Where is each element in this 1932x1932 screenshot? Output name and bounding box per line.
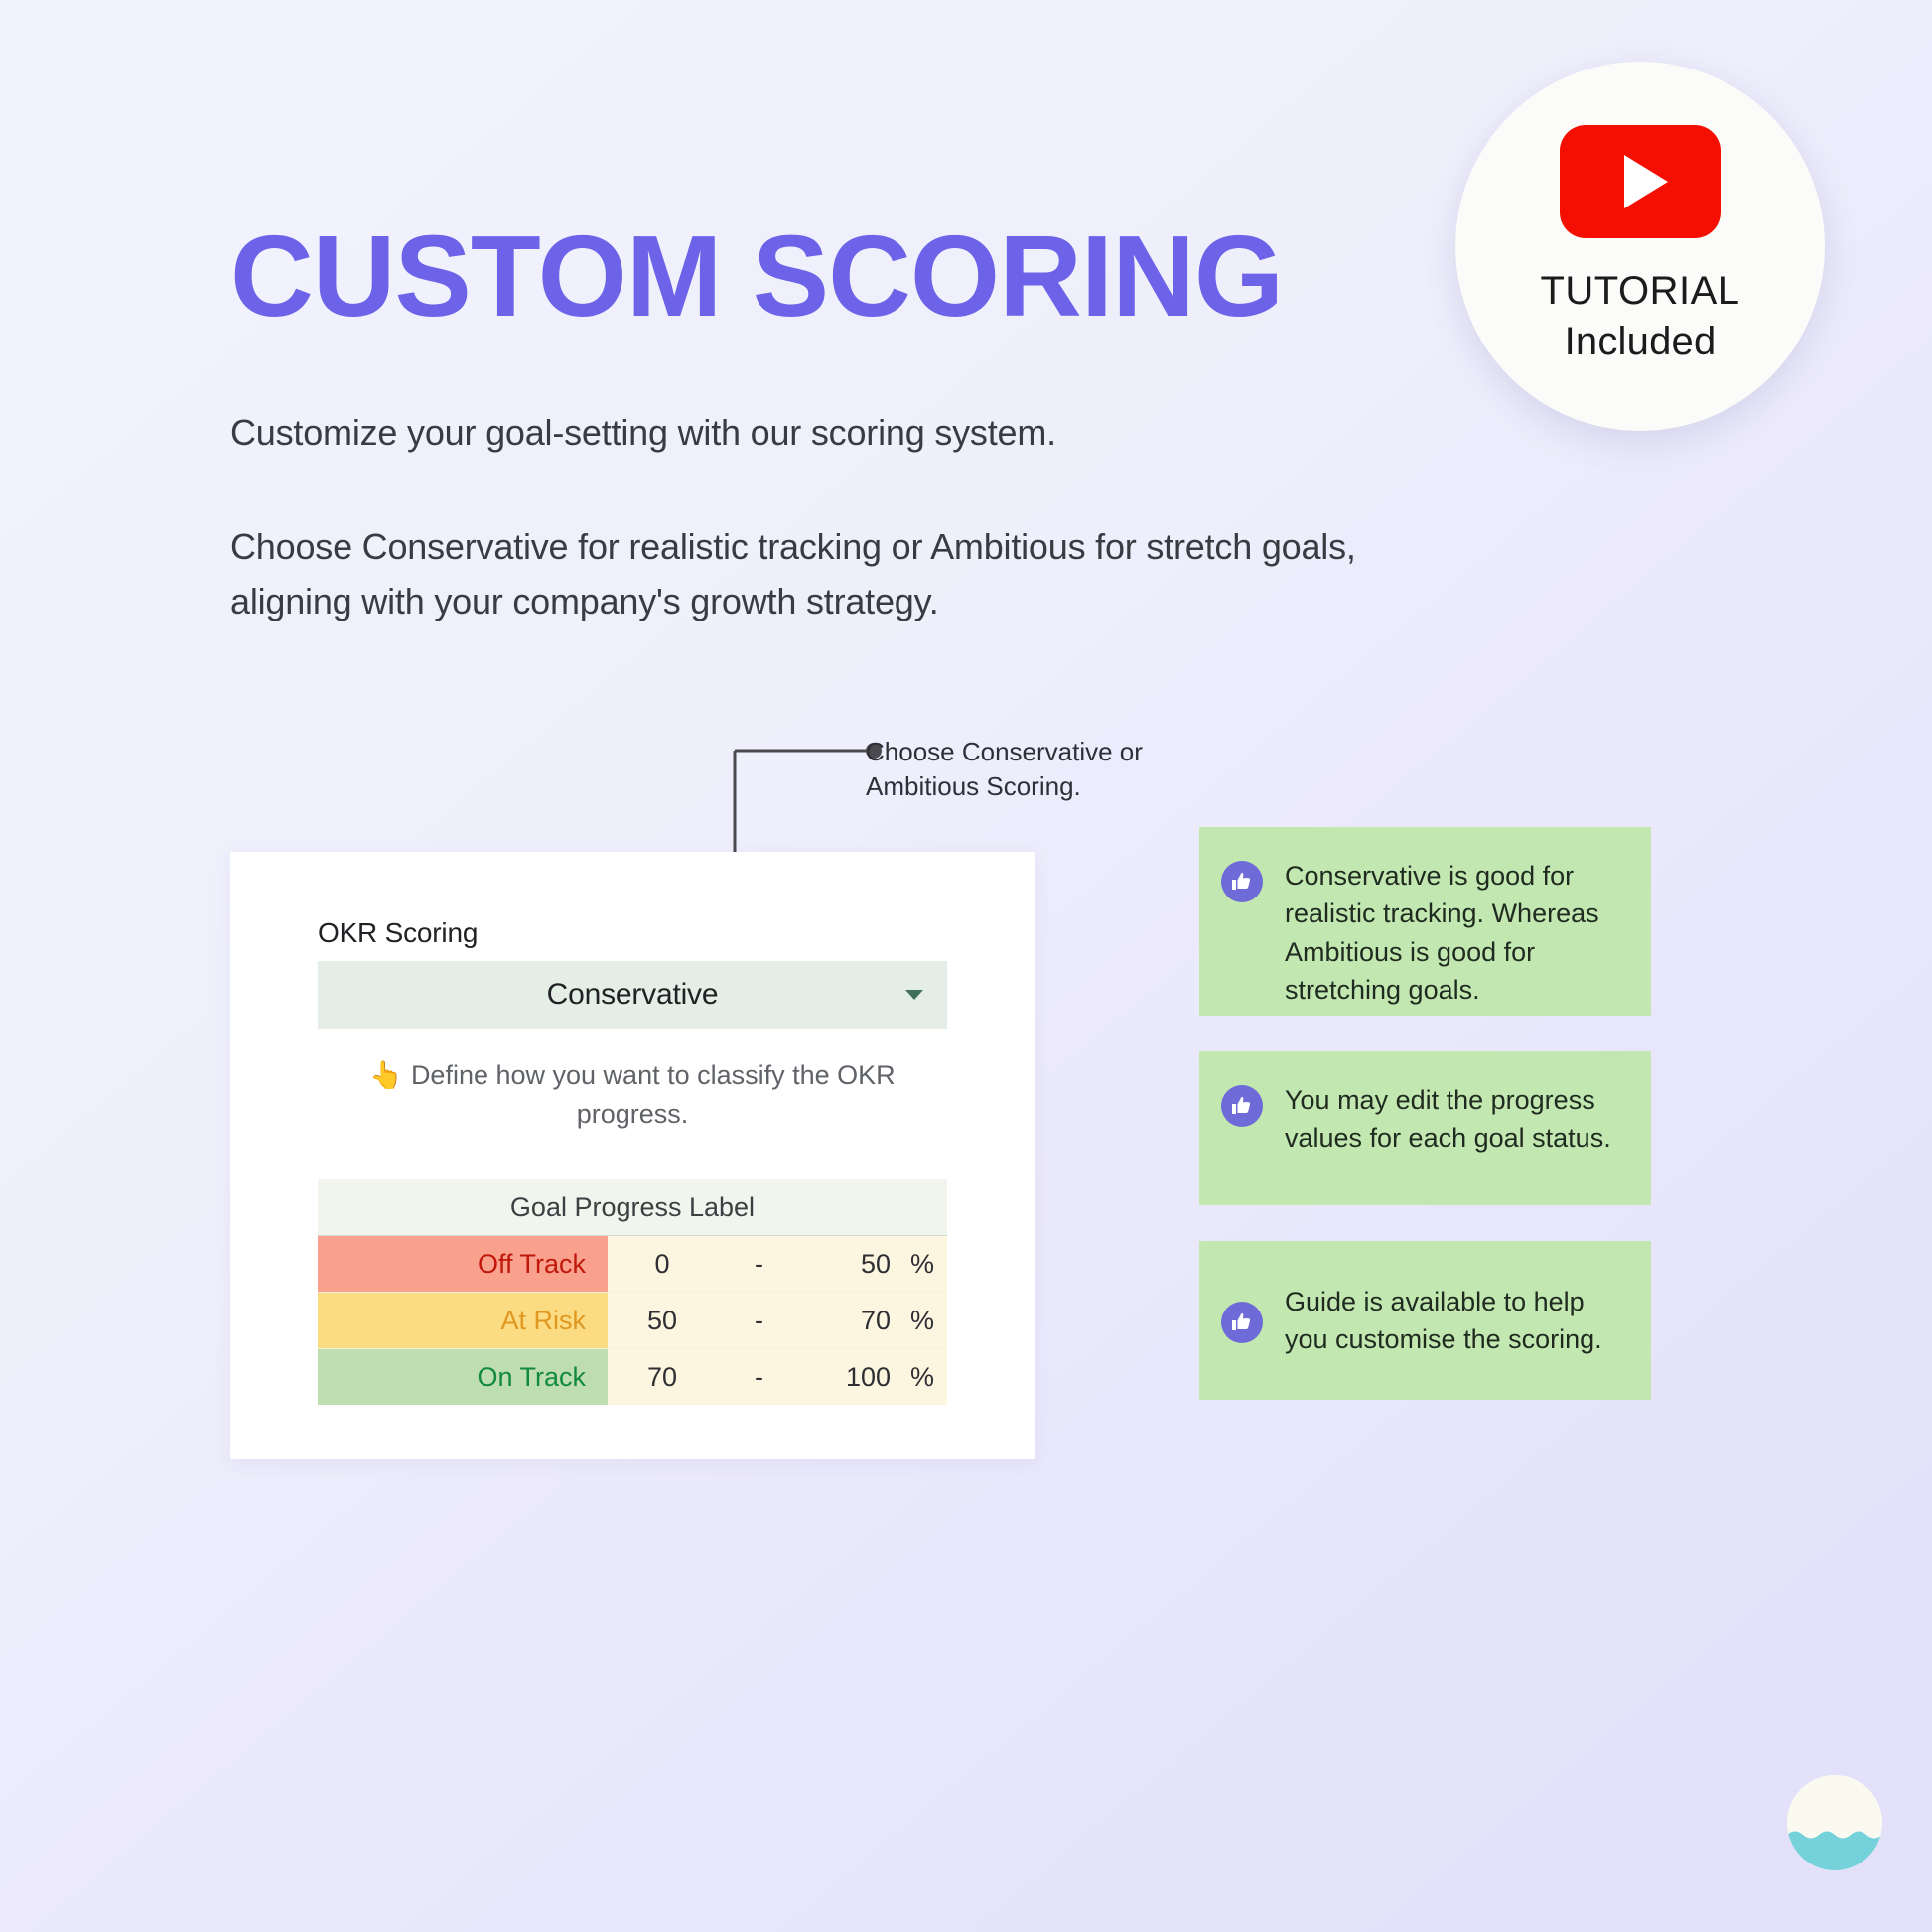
okr-scoring-select[interactable]: Conservative [318, 961, 947, 1029]
page-subtitle: Customize your goal-setting with our sco… [230, 338, 1382, 459]
pointing-up-hand-icon: 👆 [369, 1060, 403, 1090]
wave-circle-logo [1787, 1775, 1882, 1870]
range-unit: % [897, 1293, 947, 1349]
list-item: You may edit the progress values for eac… [1199, 1051, 1651, 1205]
range-unit: % [897, 1236, 947, 1293]
tutorial-badge-line2: Included [1565, 317, 1717, 367]
range-from-value[interactable]: 70 [608, 1349, 717, 1406]
range-dash: - [717, 1236, 801, 1293]
tutorial-badge-line1: TUTORIAL [1540, 266, 1739, 317]
list-item: Guide is available to help you customise… [1199, 1241, 1651, 1400]
status-badge: At Risk [318, 1293, 608, 1349]
okr-scoring-hint: 👆Define how you want to classify the OKR… [318, 1056, 947, 1134]
okr-scoring-hint-text: Define how you want to classify the OKR … [411, 1060, 896, 1129]
play-triangle-icon [1624, 155, 1668, 208]
goal-progress-table-header: Goal Progress Label [318, 1179, 947, 1236]
okr-scoring-field-label: OKR Scoring [318, 917, 478, 949]
tutorial-badge[interactable]: TUTORIAL Included [1455, 62, 1825, 431]
range-dash: - [717, 1293, 801, 1349]
range-dash: - [717, 1349, 801, 1406]
thumbs-up-icon [1221, 1302, 1263, 1343]
tips-list: Conservative is good for realistic track… [1199, 827, 1651, 1436]
header-block: CUSTOM SCORING Customize your goal-setti… [230, 216, 1382, 628]
range-from-value[interactable]: 50 [608, 1293, 717, 1349]
youtube-play-icon [1560, 125, 1721, 238]
table-row[interactable]: Off Track 0 - 50 % [318, 1236, 947, 1293]
range-unit: % [897, 1349, 947, 1406]
status-badge: On Track [318, 1349, 608, 1406]
range-to-value[interactable]: 50 [801, 1236, 897, 1293]
range-to-value[interactable]: 100 [801, 1349, 897, 1406]
okr-scoring-select-value: Conservative [547, 978, 719, 1012]
chevron-down-icon [905, 990, 923, 1000]
range-to-value[interactable]: 70 [801, 1293, 897, 1349]
status-badge: Off Track [318, 1236, 608, 1293]
annotation-callout-text: Choose Conservative or Ambitious Scoring… [866, 735, 1203, 804]
range-from-value[interactable]: 0 [608, 1236, 717, 1293]
goal-progress-table-body: Off Track 0 - 50 % At Risk 50 - 70 % On … [318, 1236, 947, 1406]
thumbs-up-icon [1221, 1085, 1263, 1127]
okr-scoring-card: OKR Scoring Conservative 👆Define how you… [230, 852, 1035, 1459]
table-row[interactable]: On Track 70 - 100 % [318, 1349, 947, 1406]
page-intro-paragraph: Choose Conservative for realistic tracki… [230, 459, 1382, 628]
goal-progress-table: Goal Progress Label Off Track 0 - 50 % A… [318, 1179, 947, 1405]
table-row[interactable]: At Risk 50 - 70 % [318, 1293, 947, 1349]
thumbs-up-icon [1221, 861, 1263, 902]
page-title: CUSTOM SCORING [230, 216, 1382, 338]
list-item-label: Guide is available to help you customise… [1285, 1283, 1621, 1359]
table-header-row: Goal Progress Label [318, 1179, 947, 1236]
list-item: Conservative is good for realistic track… [1199, 827, 1651, 1016]
list-item-label: Conservative is good for realistic track… [1285, 857, 1621, 1009]
list-item-label: You may edit the progress values for eac… [1285, 1081, 1621, 1158]
